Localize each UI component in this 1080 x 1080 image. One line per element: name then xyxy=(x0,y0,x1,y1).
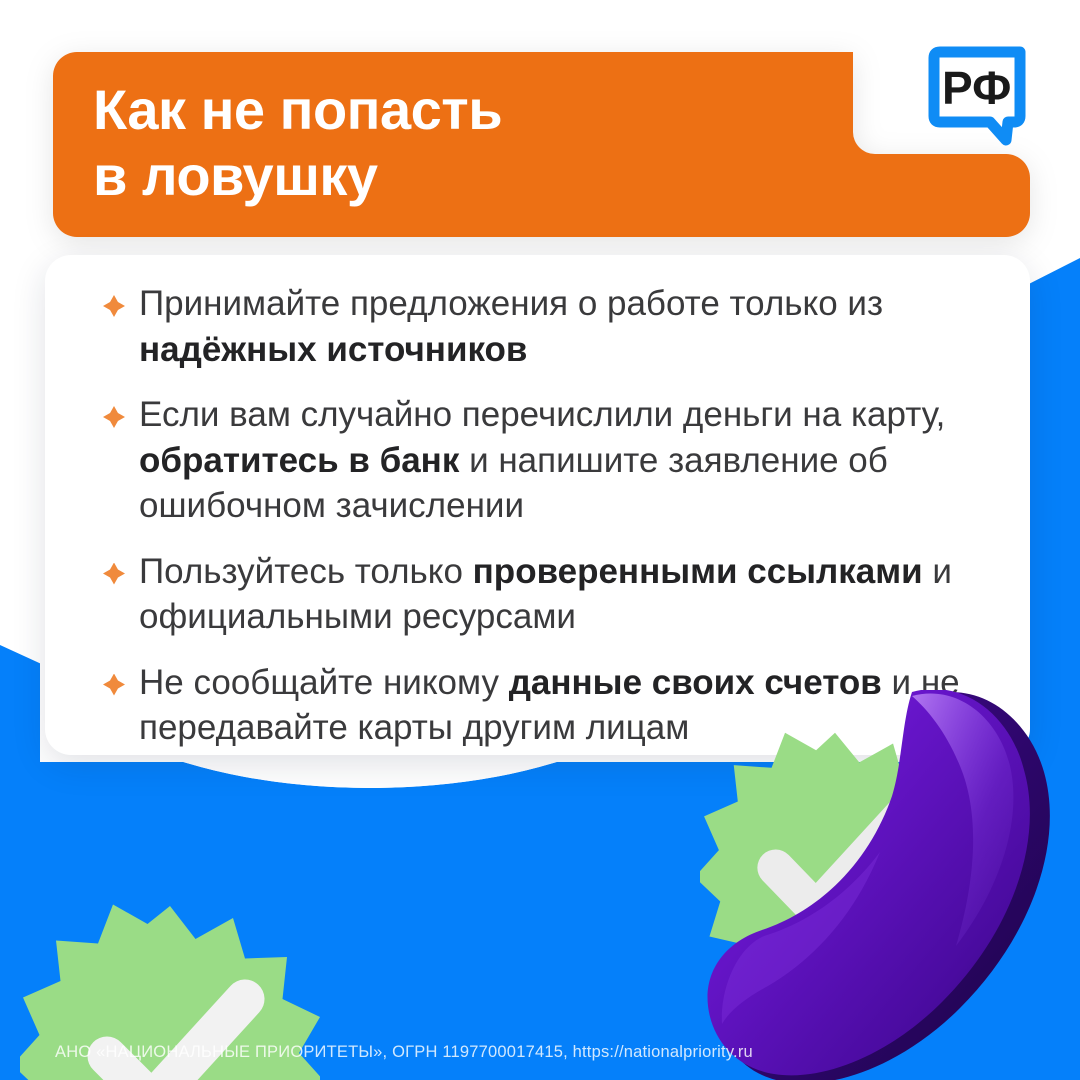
header-banner: Как не попасть в ловушку xyxy=(53,52,1030,237)
tips-list: Принимайте предложения о работе только и… xyxy=(103,281,1010,751)
tip-lead: Если вам случайно перечислили деньги на … xyxy=(139,395,945,434)
explaining-rf-logo: РФ xyxy=(928,42,1032,150)
tip-strong: обратитесь в банк xyxy=(139,441,459,480)
tip-strong: надёжных источников xyxy=(139,330,527,369)
logo-text: РФ xyxy=(942,62,1011,114)
tip-text: Пользуйтесь только проверенными ссылками… xyxy=(139,549,1010,640)
tip-text: Если вам случайно перечислили деньги на … xyxy=(139,392,1010,529)
page-title: Как не попасть в ловушку xyxy=(93,77,733,209)
bullet-diamond-icon xyxy=(103,674,125,696)
tip-strong: проверенными ссылками xyxy=(473,552,923,591)
tip-lead: Не сообщайте никому xyxy=(139,663,509,702)
3d-phone-handset-icon xyxy=(660,690,1080,1080)
list-item: Если вам случайно перечислили деньги на … xyxy=(103,392,1010,529)
footer-legal-text: АНО «НАЦИОНАЛЬНЫЕ ПРИОРИТЕТЫ», ОГРН 1197… xyxy=(55,1043,753,1062)
bullet-diamond-icon xyxy=(103,295,125,317)
bullet-diamond-icon xyxy=(103,406,125,428)
tip-lead: Пользуйтесь только xyxy=(139,552,473,591)
list-item: Принимайте предложения о работе только и… xyxy=(103,281,1010,372)
bullet-diamond-icon xyxy=(103,563,125,585)
list-item: Пользуйтесь только проверенными ссылками… xyxy=(103,549,1010,640)
tip-lead: Принимайте предложения о работе только и… xyxy=(139,284,883,323)
infographic-canvas: Как не попасть в ловушку РФ Принимайте п… xyxy=(0,0,1080,1080)
tips-card: Принимайте предложения о работе только и… xyxy=(45,255,1030,755)
tip-text: Принимайте предложения о работе только и… xyxy=(139,281,1010,372)
